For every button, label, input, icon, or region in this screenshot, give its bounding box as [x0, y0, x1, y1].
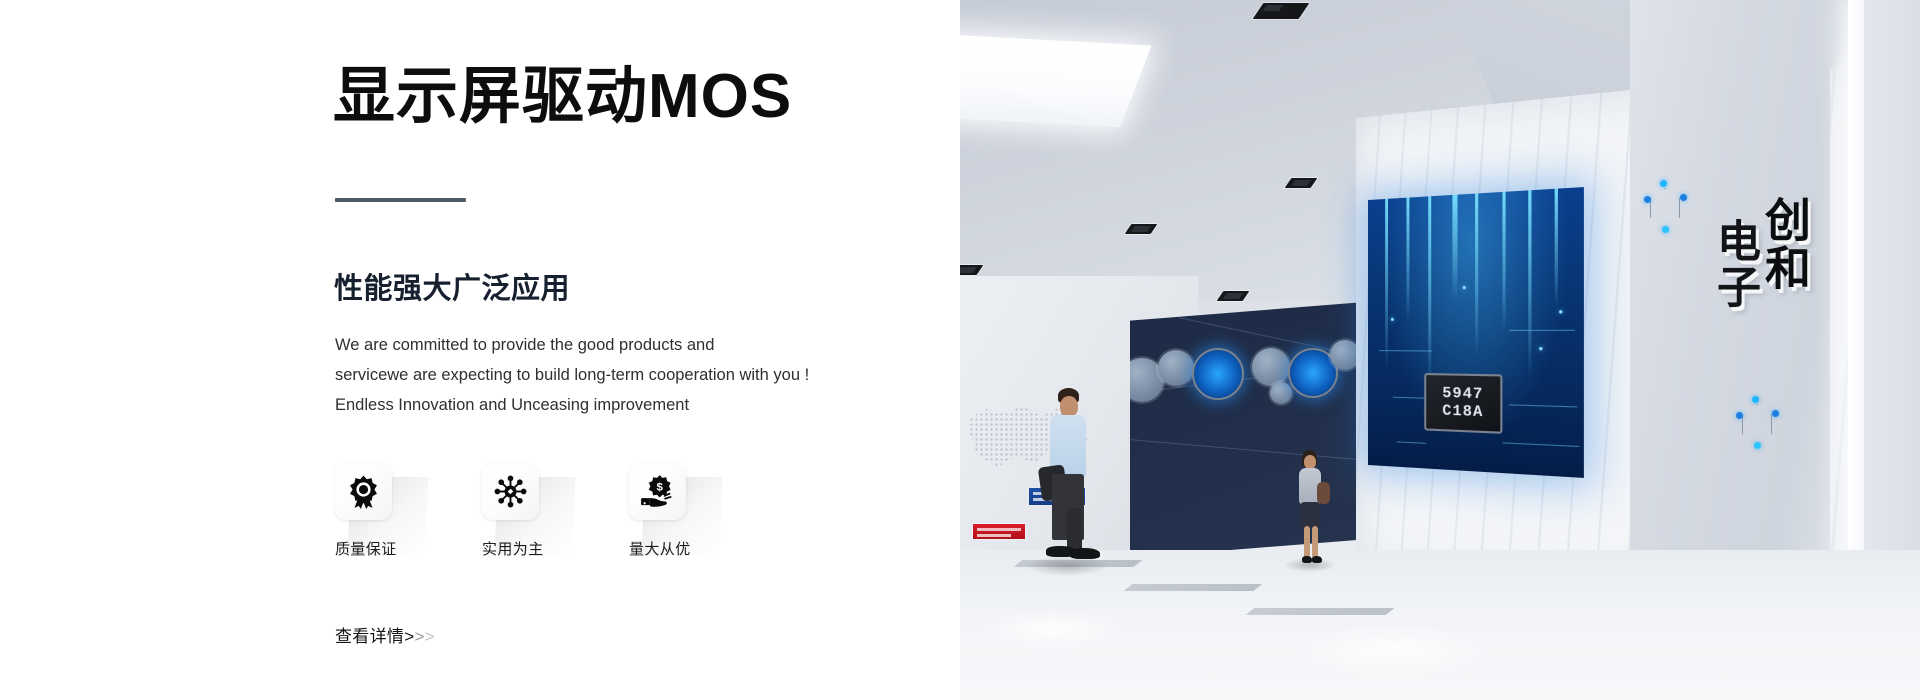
company-wall-signage: 电子 创和	[1712, 196, 1808, 310]
feature-label: 质量保证	[335, 538, 482, 559]
chevron-2: >	[414, 627, 424, 646]
hand-money-icon: $	[640, 474, 675, 509]
feature-label: 量大从优	[629, 538, 691, 559]
exhibit-wall-dark	[1130, 300, 1390, 558]
exhibit-bubble	[1270, 382, 1292, 404]
molecule-decoration-icon	[1734, 398, 1780, 450]
chevron-1: >	[404, 627, 414, 646]
led-video-wall: 5947 C18A	[1368, 187, 1584, 478]
visitor-woman	[1288, 450, 1330, 570]
description-line-1: We are committed to provide the good pro…	[335, 330, 895, 360]
view-details-link[interactable]: 查看详情>>>	[335, 622, 435, 647]
view-details-label: 查看详情	[335, 627, 404, 646]
visitor-man	[1032, 388, 1102, 573]
feature-bulk-discount[interactable]: $ 量大从优	[629, 463, 691, 559]
chip-graphic: 5947 C18A	[1424, 373, 1502, 434]
feature-icon-tile[interactable]	[482, 463, 539, 520]
showroom-photo: 5947 C18A 电子 创和	[958, 0, 1920, 700]
feature-icon-tile[interactable]: $	[629, 463, 686, 520]
exhibit-bubble-chip	[1192, 348, 1244, 400]
signage-column-back: 电子	[1712, 218, 1756, 310]
molecule-decoration-icon	[1642, 182, 1688, 234]
description-line-2: servicewe are expecting to build long-te…	[335, 360, 895, 390]
feature-label: 实用为主	[482, 538, 629, 559]
chip-code-line-2: C18A	[1442, 402, 1483, 421]
network-hub-icon	[493, 474, 528, 509]
subheadline: 性能强大广泛应用	[334, 265, 570, 307]
feature-quality-guarantee[interactable]: 质量保证	[335, 463, 482, 559]
feature-icon-tile[interactable]	[335, 463, 392, 520]
signage-column-front: 创和	[1762, 196, 1808, 310]
hero-banner: 显示屏驱动MOS 性能强大广泛应用 We are committed to pr…	[0, 0, 1920, 700]
exhibit-bubble	[1252, 348, 1290, 386]
description-line-3: Endless Innovation and Unceasing improve…	[335, 390, 895, 420]
svg-text:$: $	[656, 481, 663, 493]
chip-code-line-1: 5947	[1442, 385, 1483, 404]
chevron-3: >	[425, 627, 435, 646]
wall-placard-red	[972, 523, 1026, 540]
showroom-floor	[958, 550, 1920, 700]
description-paragraph: We are committed to provide the good pro…	[335, 330, 895, 420]
feature-practicality-first[interactable]: 实用为主	[482, 463, 629, 559]
exhibit-bubble	[1158, 350, 1194, 386]
award-badge-icon	[346, 474, 381, 509]
skylight-panel	[958, 34, 1152, 127]
page-title: 显示屏驱动MOS	[333, 62, 792, 131]
feature-badge-list: 质量保证	[335, 463, 691, 559]
left-text-panel: 显示屏驱动MOS 性能强大广泛应用 We are committed to pr…	[0, 0, 960, 700]
title-divider	[335, 198, 466, 202]
